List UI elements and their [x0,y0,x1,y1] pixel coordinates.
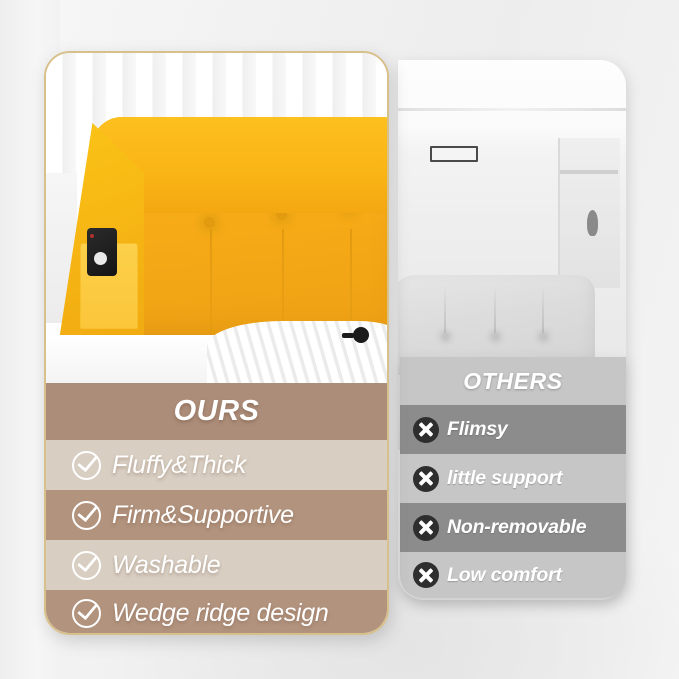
ours-header-label: OURS [174,395,260,428]
ours-row-label: Wedge ridge design [112,599,329,628]
ours-product-card: OURS Fluffy&Thick Firm&Supportive Washab… [44,51,389,635]
others-row-2: Non-removable [400,503,626,552]
phone-in-pocket [87,228,117,276]
others-row-label: little support [447,467,562,490]
infographic-canvas: OTHERS Flimsy little support Non-removab… [0,0,679,679]
alcove-shelf [560,170,618,174]
x-circle-icon [413,515,439,541]
ours-row-label: Washable [112,551,220,580]
x-circle-icon [413,562,439,588]
x-circle-icon [413,466,439,492]
grey-pillow-tuft [492,333,499,340]
x-circle-icon [413,417,439,443]
ours-row-1: Firm&Supportive [46,490,387,540]
others-header-label: OTHERS [463,368,562,395]
ours-feature-list: OURS Fluffy&Thick Firm&Supportive Washab… [46,383,387,633]
ours-product-photo [46,53,387,383]
others-row-label: Non-removable [447,516,586,539]
bed-knob [353,327,369,343]
decor-vase [587,210,598,236]
others-feature-list: OTHERS Flimsy little support Non-removab… [400,357,626,598]
others-row-3: Low comfort [400,552,626,598]
wall-picture-frame [430,146,478,162]
grey-pillow-seam [444,285,446,337]
ours-row-label: Fluffy&Thick [112,451,246,480]
phone-camera-dot [90,234,94,238]
pillow-tuft-button [204,217,215,228]
others-row-0: Flimsy [400,405,626,454]
ours-row-3: Wedge ridge design [46,590,387,635]
check-circle-icon [72,551,101,580]
ours-row-2: Washable [46,540,387,590]
wall-seam [398,108,626,111]
grey-pillow-tuft [442,333,449,340]
yellow-wedge-pillow [58,117,387,351]
grey-pillow-tuft [540,333,547,340]
pillow-seam [210,229,212,339]
others-row-label: Low comfort [447,564,562,587]
others-row-label: Flimsy [447,418,508,441]
check-circle-icon [72,599,101,628]
ours-header: OURS [46,383,387,440]
check-circle-icon [72,451,101,480]
grey-pillow-seam [542,285,544,337]
grey-pillow-seam [494,285,496,337]
others-row-1: little support [400,454,626,503]
phone-lens [94,252,107,265]
side-pocket [80,243,138,329]
check-circle-icon [72,501,101,530]
others-header: OTHERS [400,357,626,405]
ours-row-0: Fluffy&Thick [46,440,387,490]
ours-row-label: Firm&Supportive [112,501,294,530]
